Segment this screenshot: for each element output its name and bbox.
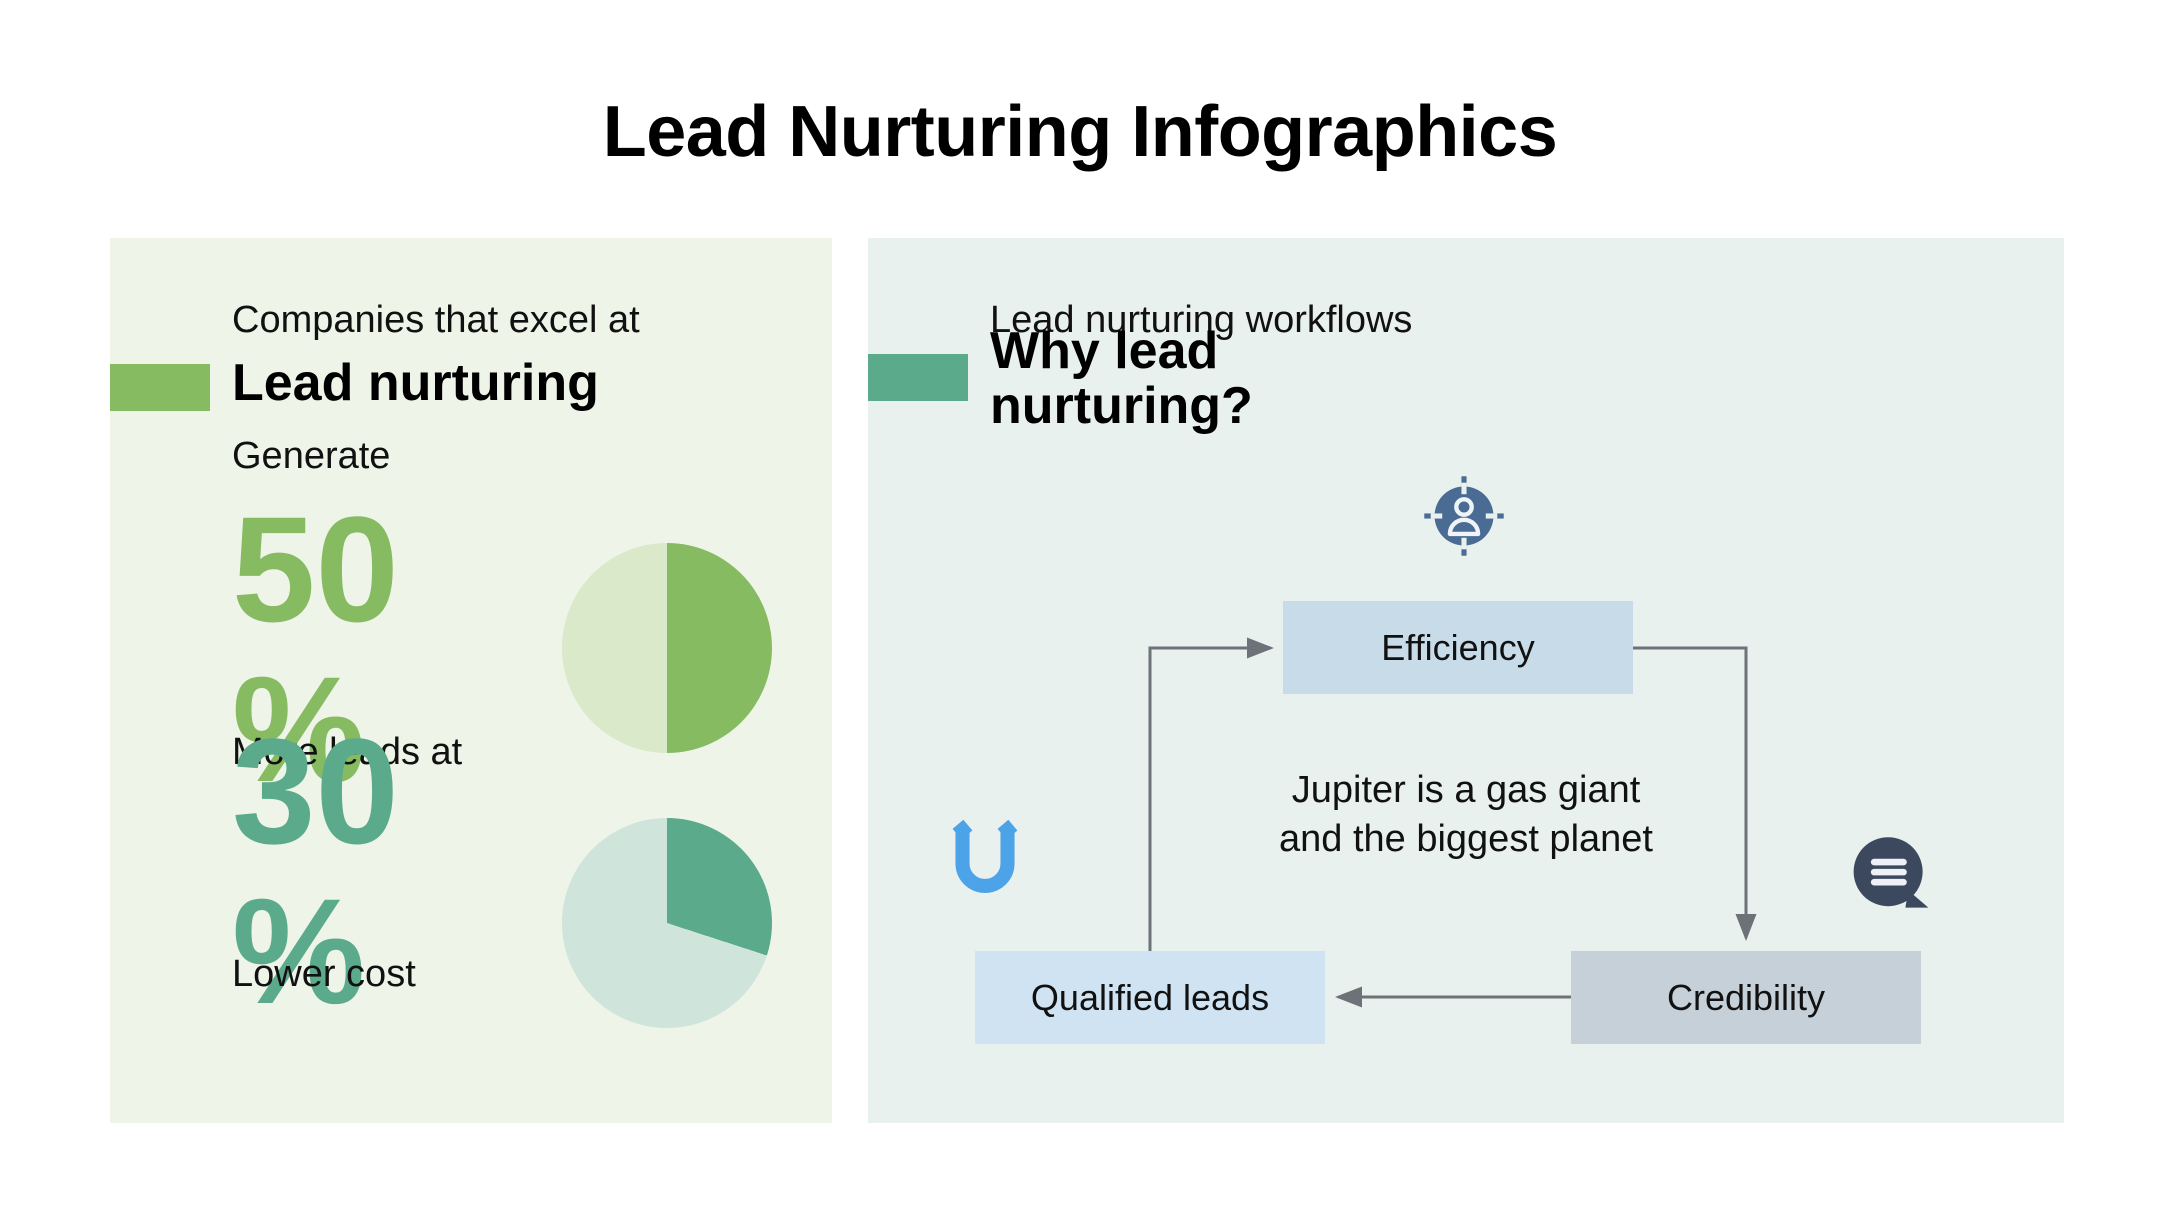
page-title: Lead Nurturing Infographics [0, 96, 2160, 168]
flow-diagram: Efficiency Credibility Qualified leads J… [868, 238, 2064, 1123]
stat-value-2: 30 [232, 728, 399, 856]
stat-caption-2: Lower cost [232, 954, 416, 996]
left-panel-eyebrow: Companies that excel at [232, 300, 640, 342]
flow-center-caption-line1: Jupiter is a gas giant [1196, 766, 1736, 815]
flow-center-caption: Jupiter is a gas giant and the biggest p… [1196, 766, 1736, 863]
flow-center-caption-line2: and the biggest planet [1196, 815, 1736, 864]
flow-node-qualified-leads[interactable]: Qualified leads [975, 951, 1325, 1044]
left-accent-bar [110, 364, 210, 411]
chat-lines-icon [1845, 830, 1937, 922]
target-person-icon [1423, 475, 1505, 557]
magnet-icon [940, 810, 1030, 900]
right-panel-why-lead-nurturing: Lead nurturing workflows Why lead nurtur… [868, 238, 2064, 1123]
stat-value-1: 50 [232, 506, 399, 634]
left-panel-subheading: Generate [232, 436, 390, 478]
pie-chart-more-leads [562, 543, 772, 753]
flow-node-efficiency[interactable]: Efficiency [1283, 601, 1633, 694]
pie-chart-lower-cost [562, 818, 772, 1028]
left-panel-heading: Lead nurturing [232, 355, 599, 412]
left-panel-lead-nurturing-stats: Companies that excel at Lead nurturing G… [110, 238, 832, 1123]
flow-node-credibility[interactable]: Credibility [1571, 951, 1921, 1044]
stat-percent-symbol-2: % [232, 888, 365, 1016]
